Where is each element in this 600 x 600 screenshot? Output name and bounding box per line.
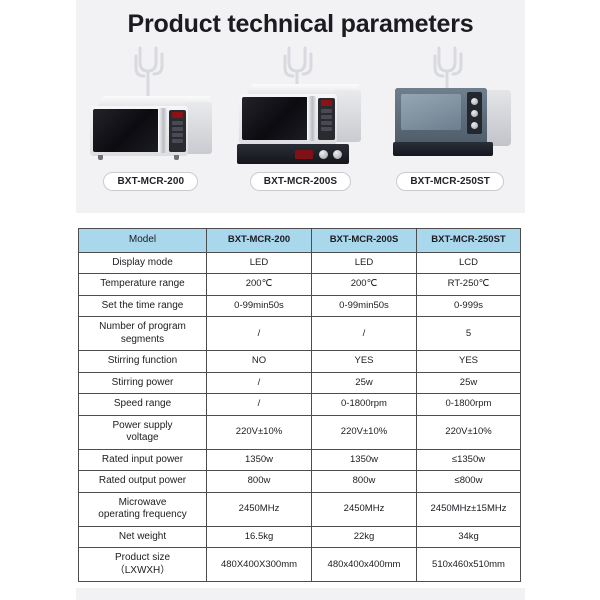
- microwave-front: [239, 94, 337, 144]
- table-row: Microwave operating frequency 2450MHz 24…: [79, 492, 521, 526]
- row-value-2: 2450MHz: [312, 492, 417, 526]
- row-value-2: 1350w: [312, 449, 417, 471]
- row-label: Microwave operating frequency: [79, 492, 207, 526]
- row-value-1: 0-99min50s: [207, 295, 312, 317]
- product-image-bxt-mcr-250st: [385, 46, 515, 166]
- product-spec-page: Product technical parameters: [0, 0, 600, 600]
- row-value-3: 5: [417, 317, 521, 351]
- row-value-3: YES: [417, 351, 521, 373]
- row-value-2: 25w: [312, 372, 417, 394]
- product-label-2: BXT-MCR-200S: [250, 172, 351, 191]
- row-label: Display mode: [79, 252, 207, 274]
- base-knob: [319, 150, 328, 159]
- row-value-2: 800w: [312, 471, 417, 493]
- led-display: [172, 112, 183, 118]
- stirring-base-module: [237, 144, 349, 164]
- header-cell-model: Model: [79, 229, 207, 253]
- row-label: Set the time range: [79, 295, 207, 317]
- control-dial: [471, 122, 478, 129]
- row-value-3: RT-250℃: [417, 274, 521, 296]
- spec-table-container: Model BXT-MCR-200 BXT-MCR-200S BXT-MCR-2…: [78, 228, 520, 582]
- base-knob: [333, 150, 342, 159]
- product-image-bxt-mcr-200: [86, 46, 216, 166]
- row-value-1: 1350w: [207, 449, 312, 471]
- digestion-system-body: [389, 96, 511, 160]
- control-key: [321, 115, 332, 119]
- microwave-control-panel: [169, 110, 186, 152]
- control-dial: [471, 98, 478, 105]
- row-value-3: LCD: [417, 252, 521, 274]
- table-row: Stirring function NO YES YES: [79, 351, 521, 373]
- microwave-door-glass: [93, 109, 159, 152]
- product-image-bxt-mcr-200s: [235, 46, 365, 166]
- row-label: Net weight: [79, 526, 207, 548]
- header-cell-col1: BXT-MCR-200: [207, 229, 312, 253]
- control-key: [321, 127, 332, 131]
- system-front: [395, 88, 487, 146]
- microwave-door-handle: [158, 108, 167, 153]
- row-value-3: ≤1350w: [417, 449, 521, 471]
- row-value-1: /: [207, 394, 312, 416]
- product-card-1[interactable]: BXT-MCR-200: [81, 46, 221, 191]
- product-label-3: BXT-MCR-250ST: [396, 172, 504, 191]
- table-row: Set the time range 0-99min50s 0-99min50s…: [79, 295, 521, 317]
- product-card-2[interactable]: BXT-MCR-200S: [230, 46, 370, 191]
- table-row: Temperature range 200℃ 200℃ RT-250℃: [79, 274, 521, 296]
- row-value-1: 200℃: [207, 274, 312, 296]
- led-display: [321, 100, 332, 106]
- row-value-3: 0-1800rpm: [417, 394, 521, 416]
- control-dial: [471, 110, 478, 117]
- row-value-2: 200℃: [312, 274, 417, 296]
- row-value-3: 25w: [417, 372, 521, 394]
- system-control-strip: [467, 92, 482, 134]
- row-value-1: LED: [207, 252, 312, 274]
- system-base: [393, 142, 493, 156]
- product-gallery: BXT-MCR-200: [76, 46, 525, 191]
- table-row: Stirring power / 25w 25w: [79, 372, 521, 394]
- control-key: [172, 139, 183, 143]
- row-value-2: 0-1800rpm: [312, 394, 417, 416]
- condenser-tubes-icon: [128, 46, 174, 100]
- table-row: Rated output power 800w 800w ≤800w: [79, 471, 521, 493]
- row-value-1: 800w: [207, 471, 312, 493]
- row-label: Speed range: [79, 394, 207, 416]
- row-label: Product size （LXWXH）: [79, 548, 207, 582]
- row-value-1: 480X400X300mm: [207, 548, 312, 582]
- product-card-3[interactable]: BXT-MCR-250ST: [380, 46, 520, 191]
- row-value-2: /: [312, 317, 417, 351]
- microwave-body: [90, 96, 212, 160]
- row-value-2: 220V±10%: [312, 415, 417, 449]
- table-header-row: Model BXT-MCR-200 BXT-MCR-200S BXT-MCR-2…: [79, 229, 521, 253]
- row-value-1: 16.5kg: [207, 526, 312, 548]
- microwave-foot: [98, 155, 103, 160]
- control-key: [172, 133, 183, 137]
- row-label: Rated input power: [79, 449, 207, 471]
- row-value-3: 34kg: [417, 526, 521, 548]
- row-value-2: 480x400x400mm: [312, 548, 417, 582]
- table-row: Power supply voltage 220V±10% 220V±10% 2…: [79, 415, 521, 449]
- row-value-1: NO: [207, 351, 312, 373]
- page-title: Product technical parameters: [76, 10, 525, 39]
- row-value-1: /: [207, 372, 312, 394]
- microwave-side-panel: [335, 90, 361, 142]
- control-key: [321, 121, 332, 125]
- microwave-foot: [174, 155, 179, 160]
- row-value-3: ≤800w: [417, 471, 521, 493]
- control-key: [172, 121, 183, 125]
- microwave-front: [90, 106, 188, 156]
- row-value-3: 510x460x510mm: [417, 548, 521, 582]
- row-label: Stirring function: [79, 351, 207, 373]
- row-label: Number of program segments: [79, 317, 207, 351]
- hero-banner: Product technical parameters: [76, 0, 525, 213]
- header-cell-col2: BXT-MCR-200S: [312, 229, 417, 253]
- header-cell-col3: BXT-MCR-250ST: [417, 229, 521, 253]
- row-label: Temperature range: [79, 274, 207, 296]
- row-label: Power supply voltage: [79, 415, 207, 449]
- row-value-2: 22kg: [312, 526, 417, 548]
- row-value-2: LED: [312, 252, 417, 274]
- microwave-door-handle: [307, 96, 316, 141]
- product-label-1: BXT-MCR-200: [103, 172, 198, 191]
- table-row: Rated input power 1350w 1350w ≤1350w: [79, 449, 521, 471]
- control-key: [321, 109, 332, 113]
- row-label: Rated output power: [79, 471, 207, 493]
- row-value-3: 220V±10%: [417, 415, 521, 449]
- footer-strip: [76, 588, 525, 600]
- table-row: Number of program segments / / 5: [79, 317, 521, 351]
- row-value-2: 0-99min50s: [312, 295, 417, 317]
- table-row: Display mode LED LED LCD: [79, 252, 521, 274]
- base-digital-display: [295, 150, 313, 159]
- row-label: Stirring power: [79, 372, 207, 394]
- control-key: [172, 127, 183, 131]
- microwave-door-glass: [242, 97, 308, 140]
- table-row: Net weight 16.5kg 22kg 34kg: [79, 526, 521, 548]
- row-value-1: 2450MHz: [207, 492, 312, 526]
- row-value-2: YES: [312, 351, 417, 373]
- microwave-control-panel: [318, 98, 335, 140]
- row-value-3: 2450MHz±15MHz: [417, 492, 521, 526]
- row-value-1: 220V±10%: [207, 415, 312, 449]
- row-value-3: 0-999s: [417, 295, 521, 317]
- microwave-side-panel: [186, 102, 212, 154]
- table-row: Speed range / 0-1800rpm 0-1800rpm: [79, 394, 521, 416]
- row-value-1: /: [207, 317, 312, 351]
- microwave-body: [239, 84, 361, 148]
- chamber-window: [401, 94, 461, 130]
- table-row: Product size （LXWXH） 480X400X300mm 480x4…: [79, 548, 521, 582]
- spec-table: Model BXT-MCR-200 BXT-MCR-200S BXT-MCR-2…: [78, 228, 521, 582]
